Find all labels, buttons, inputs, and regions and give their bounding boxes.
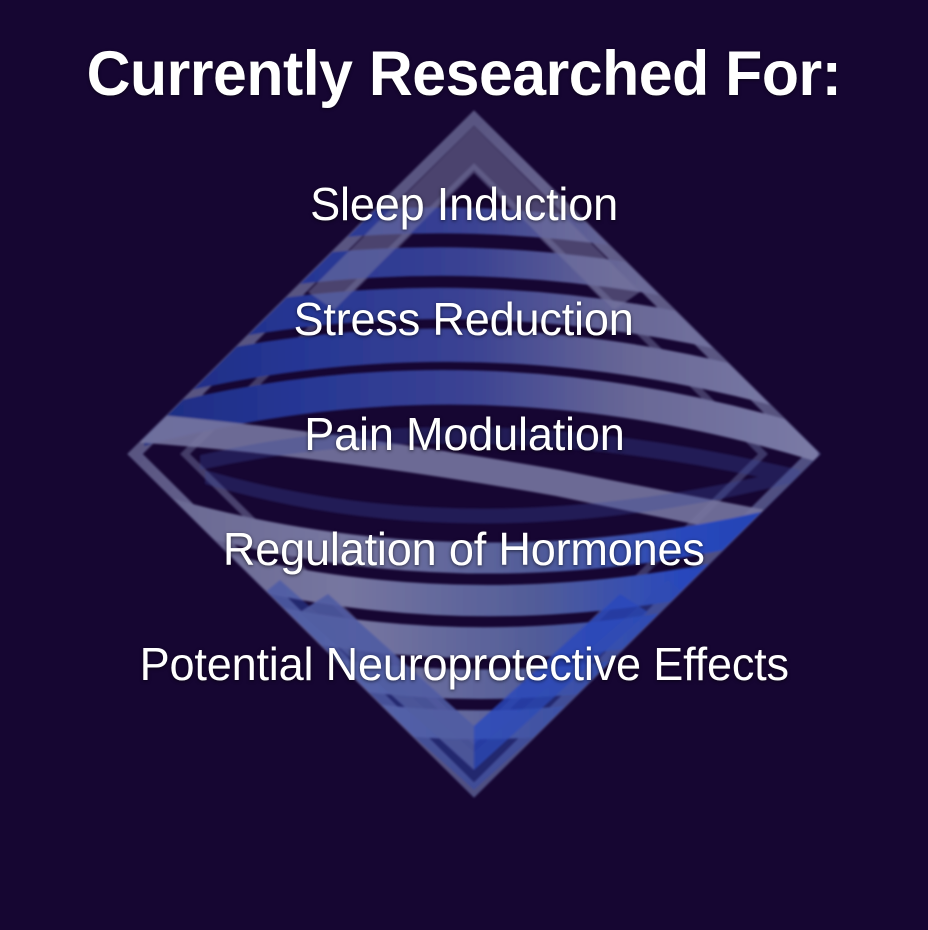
- researched-for-list: Sleep Induction Stress Reduction Pain Mo…: [0, 176, 928, 751]
- list-item: Potential Neuroprotective Effects: [0, 636, 928, 751]
- list-item: Sleep Induction: [0, 176, 928, 291]
- list-item-label: Stress Reduction: [294, 291, 634, 347]
- page-title: Currently Researched For:: [16, 38, 912, 110]
- slide-content: Currently Researched For: Sleep Inductio…: [0, 0, 928, 930]
- list-item: Stress Reduction: [0, 291, 928, 406]
- list-item-label: Potential Neuroprotective Effects: [139, 636, 788, 692]
- list-item: Pain Modulation: [0, 406, 928, 521]
- list-item: Regulation of Hormones: [0, 521, 928, 636]
- slide-canvas: Currently Researched For: Sleep Inductio…: [0, 0, 928, 930]
- list-item-label: Pain Modulation: [304, 406, 624, 462]
- list-item-label: Regulation of Hormones: [223, 521, 705, 577]
- list-item-label: Sleep Induction: [310, 176, 618, 232]
